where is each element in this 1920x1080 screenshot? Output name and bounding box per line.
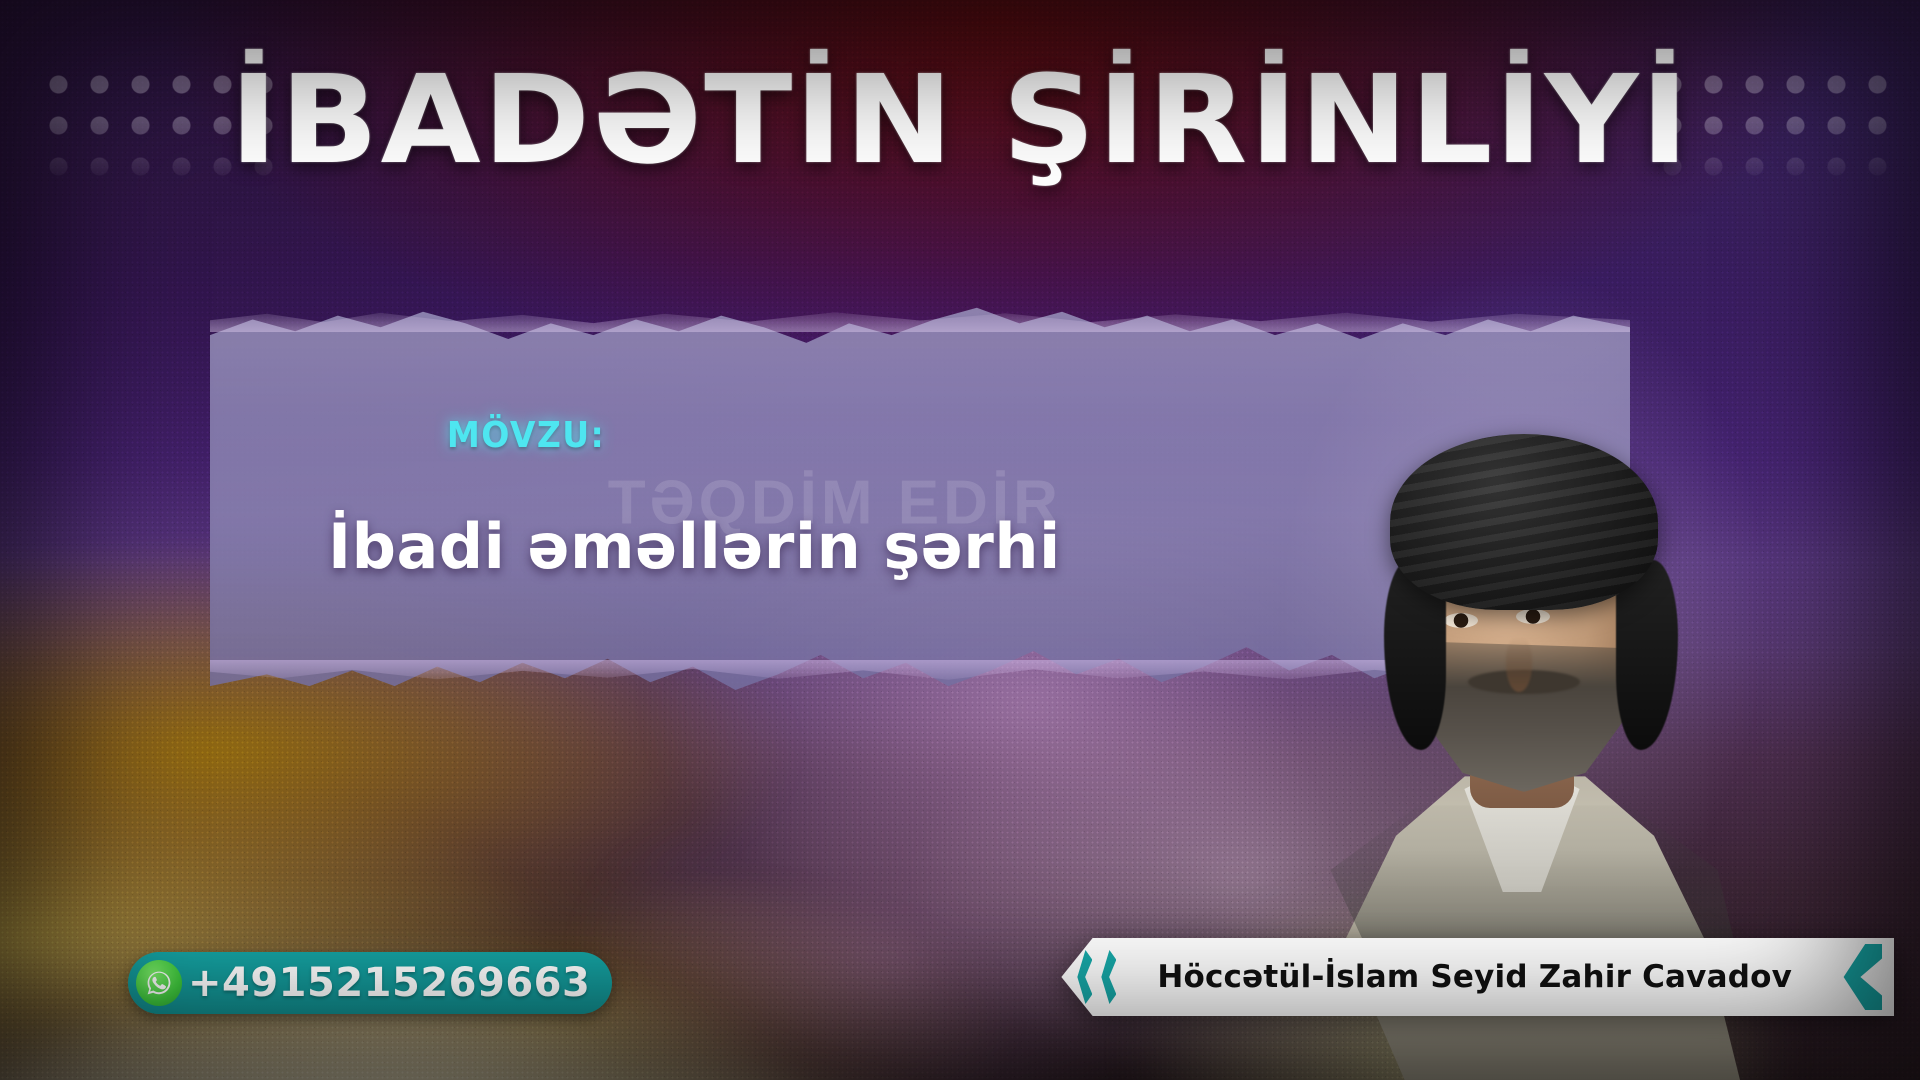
portrait-eye-left	[1444, 613, 1478, 628]
whatsapp-contact-pill[interactable]: +4915215269663	[128, 952, 612, 1014]
poster-title: İBADƏTİN ŞİRİNLİYİ	[229, 62, 1690, 179]
portrait-nose	[1506, 638, 1532, 692]
speaker-name: Höccətül-İslam Seyid Zahir Cavadov	[1157, 959, 1792, 995]
chevron-right-icon	[1818, 938, 1894, 1016]
portrait-eye-right	[1516, 609, 1550, 624]
whatsapp-phone-number: +4915215269663	[188, 960, 590, 1006]
poster-canvas: İBADƏTİN ŞİRİNLİYİ TƏQDİM EDİR MÖVZU: İb…	[0, 0, 1920, 1080]
speaker-banner: Höccətül-İslam Seyid Zahir Cavadov	[1061, 938, 1894, 1016]
topic-label: MÖVZU:	[447, 415, 605, 456]
chevron-left-icon	[1061, 938, 1153, 1016]
speaker-banner-body: Höccətül-İslam Seyid Zahir Cavadov	[1153, 938, 1818, 1016]
poster-title-wrapper: İBADƏTİN ŞİRİNLİYİ	[0, 62, 1920, 179]
topic-text: İbadi əməllərin şərhi	[328, 510, 1061, 583]
portrait-turban	[1390, 434, 1658, 610]
whatsapp-icon	[136, 960, 182, 1006]
